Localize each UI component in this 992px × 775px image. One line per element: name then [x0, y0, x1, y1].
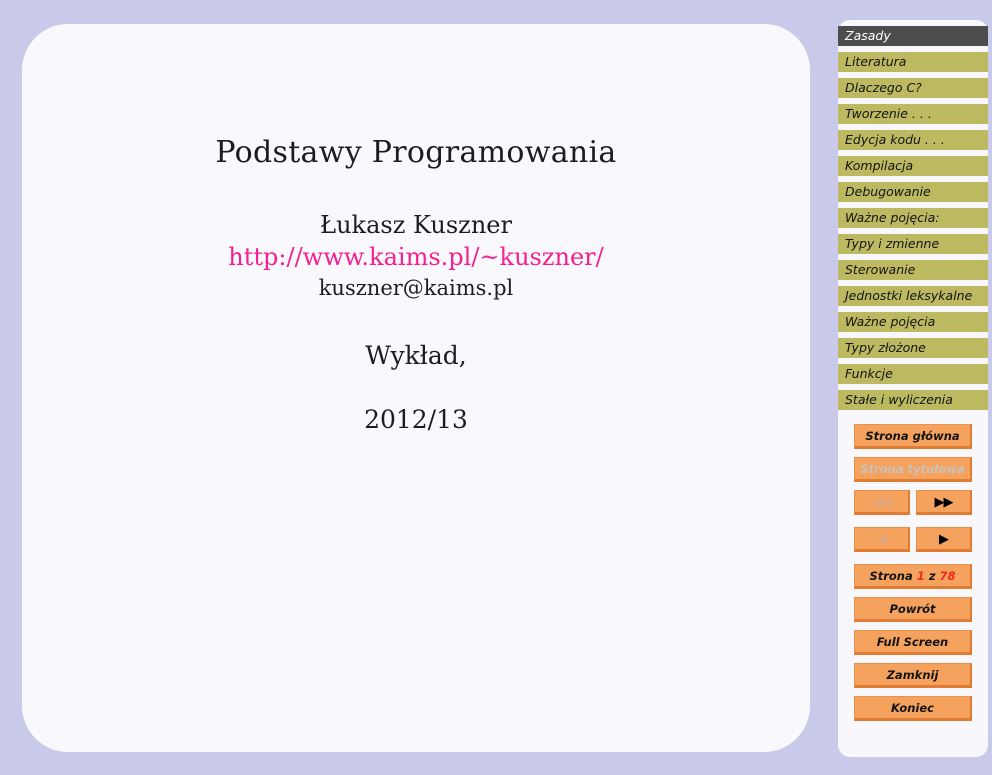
slide-content: Podstawy Programowania Łukasz Kuszner ht…	[22, 136, 810, 434]
page-word: Strona	[869, 569, 912, 583]
sidebar-panel: Zasady Literatura Dlaczego C? Tworzenie …	[838, 20, 988, 757]
sidebar-item-label: Typy i zmienne	[845, 236, 939, 251]
sidebar-item-sterowanie[interactable]: Sterowanie	[838, 260, 988, 280]
sidebar-item-tworzenie[interactable]: Tworzenie . . .	[838, 104, 988, 124]
left-arrow-icon: ◀	[877, 532, 886, 547]
author-homepage-link[interactable]: http://www.kaims.pl/~kuszner/	[22, 241, 810, 273]
page-title: Podstawy Programowania	[22, 136, 810, 171]
sidebar-item-label: Kompilacja	[845, 158, 913, 173]
home-button[interactable]: Strona główna	[854, 424, 972, 449]
sidebar-item-label: Literatura	[845, 54, 906, 69]
sidebar-item-funkcje[interactable]: Funkcje	[838, 364, 988, 384]
sidebar-item-label: Dlaczego C?	[845, 80, 922, 95]
section-nav-row: ◀◀ ▶▶	[838, 490, 988, 515]
sidebar-item-label: Funkcje	[845, 366, 893, 381]
sidebar-item-label: Tworzenie . . .	[845, 106, 932, 121]
full-screen-button[interactable]: Full Screen	[854, 630, 972, 655]
close-button[interactable]: Zamknij	[854, 663, 972, 688]
sidebar-item-label: Typy złożone	[845, 340, 926, 355]
author-name: Łukasz Kuszner	[22, 209, 810, 241]
sidebar-item-label: Stałe i wyliczenia	[845, 392, 953, 407]
right-arrow-icon: ▶	[939, 532, 948, 547]
academic-year: 2012/13	[22, 405, 810, 434]
double-right-arrow-icon: ▶▶	[935, 495, 953, 510]
sidebar-item-wazne-pojecia-1[interactable]: Ważne pojęcia:	[838, 208, 988, 228]
sidebar-item-label: Jednostki leksykalne	[845, 288, 972, 303]
page-nav-row: ◀ ▶	[838, 527, 988, 552]
sidebar-item-zasady[interactable]: Zasady	[838, 26, 988, 46]
section-navigation-list: Zasady Literatura Dlaczego C? Tworzenie …	[838, 26, 988, 416]
author-email: kuszner@kaims.pl	[22, 274, 810, 302]
double-left-arrow-icon: ◀◀	[873, 495, 891, 510]
page-counter[interactable]: Strona 1 z 78	[854, 564, 972, 589]
sidebar-item-wazne-pojecia-2[interactable]: Ważne pojęcia	[838, 312, 988, 332]
sidebar-item-jednostki-leksykalne[interactable]: Jednostki leksykalne	[838, 286, 988, 306]
sidebar-item-edycja-kodu[interactable]: Edycja kodu . . .	[838, 130, 988, 150]
quit-button[interactable]: Koniec	[854, 696, 972, 721]
prev-section-button[interactable]: ◀◀	[854, 490, 910, 515]
next-section-button[interactable]: ▶▶	[916, 490, 972, 515]
navigation-controls: Strona główna Strona tytułowa ◀◀ ▶▶ ◀ ▶ …	[838, 424, 988, 729]
author-block: Łukasz Kuszner http://www.kaims.pl/~kusz…	[22, 209, 810, 303]
page-of-word: z	[929, 569, 936, 583]
lecture-label: Wykład,	[22, 341, 810, 370]
back-button[interactable]: Powrót	[854, 597, 972, 622]
sidebar-item-label: Ważne pojęcia	[845, 314, 935, 329]
prev-page-button[interactable]: ◀	[854, 527, 910, 552]
page-current: 1	[917, 569, 925, 583]
sidebar-item-debugowanie[interactable]: Debugowanie	[838, 182, 988, 202]
sidebar-item-label: Edycja kodu . . .	[845, 132, 945, 147]
next-page-button[interactable]: ▶	[916, 527, 972, 552]
sidebar-item-label: Debugowanie	[845, 184, 931, 199]
sidebar-item-literatura[interactable]: Literatura	[838, 52, 988, 72]
title-page-button[interactable]: Strona tytułowa	[854, 457, 972, 482]
sidebar-item-typy-zlozone[interactable]: Typy złożone	[838, 338, 988, 358]
page-total: 78	[940, 569, 956, 583]
sidebar-item-stale-i-wyliczenia[interactable]: Stałe i wyliczenia	[838, 390, 988, 410]
sidebar-item-dlaczego-c[interactable]: Dlaczego C?	[838, 78, 988, 98]
sidebar-item-label: Sterowanie	[845, 262, 915, 277]
slide-panel: Podstawy Programowania Łukasz Kuszner ht…	[22, 24, 810, 752]
sidebar-item-label: Ważne pojęcia:	[845, 210, 939, 225]
sidebar-item-kompilacja[interactable]: Kompilacja	[838, 156, 988, 176]
sidebar-item-typy-i-zmienne[interactable]: Typy i zmienne	[838, 234, 988, 254]
sidebar-item-label: Zasady	[845, 28, 891, 43]
